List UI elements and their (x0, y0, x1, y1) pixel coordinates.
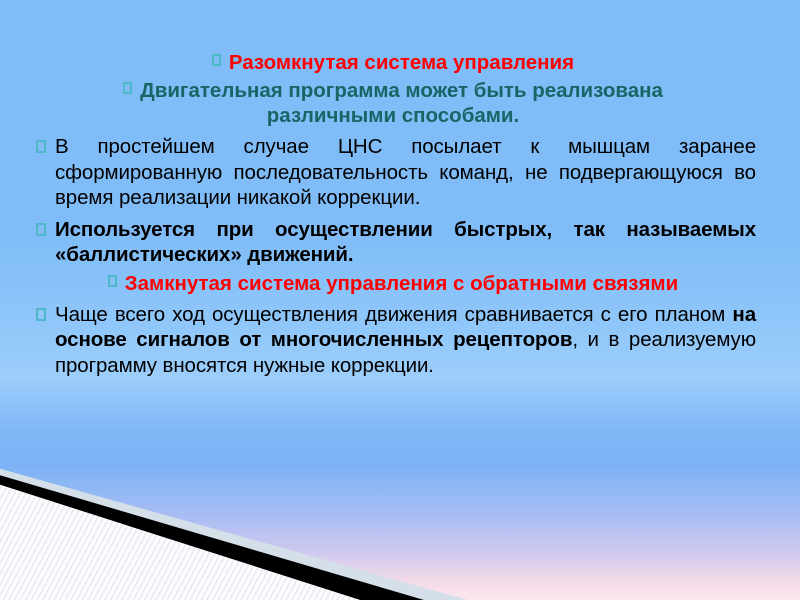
para-ballistic-text: Используется при осуществлении быстрых, … (55, 218, 756, 267)
para-cns-text: В простейшем случае ЦНС посылает к мышца… (55, 135, 756, 209)
bullet-box-icon (123, 82, 132, 94)
bullet-box-icon (108, 275, 117, 287)
heading-open-loop-text: Разомкнутая система управления (229, 51, 574, 74)
bullet-box-icon (36, 140, 46, 153)
slide-decoration (0, 440, 800, 600)
heading-open-loop: Разомкнутая система управления (30, 50, 756, 75)
presentation-slide: Разомкнутая система управления Двигатель… (0, 0, 800, 600)
slide-content: Разомкнутая система управления Двигатель… (30, 50, 756, 378)
heading-motor-program: Двигательная программа может быть реализ… (30, 78, 756, 128)
bullet-box-icon (212, 54, 221, 66)
para-cns: В простейшем случае ЦНС посылает к мышца… (30, 134, 756, 211)
para-ballistic: Используется при осуществлении быстрых, … (30, 217, 756, 268)
heading-closed-loop: Замкнутая система управления с обратными… (30, 271, 756, 296)
bullet-box-icon (36, 308, 46, 321)
heading-motor-program-text: Двигательная программа может быть реализ… (140, 79, 663, 127)
bullet-box-icon (36, 223, 46, 236)
para-feedback-part-1: Чаще всего ход осуществления движения ср… (55, 303, 732, 326)
para-feedback: Чаще всего ход осуществления движения ср… (30, 302, 756, 379)
heading-closed-loop-text: Замкнутая система управления с обратными… (125, 272, 678, 295)
